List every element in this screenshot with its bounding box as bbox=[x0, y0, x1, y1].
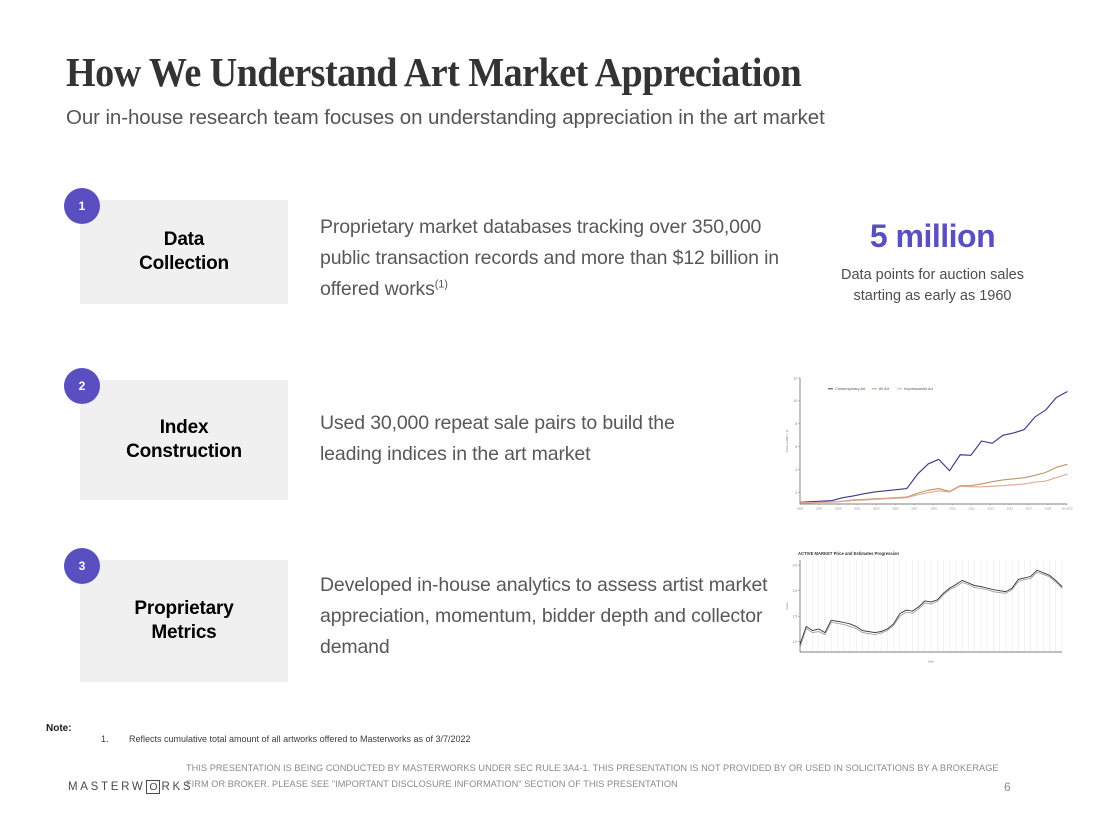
step-box-label: Proprietary Metrics bbox=[134, 597, 233, 646]
svg-text:2019: 2019 bbox=[1045, 506, 1052, 510]
svg-text:Index (1995 = 1): Index (1995 = 1) bbox=[785, 430, 789, 453]
page-number: 6 bbox=[1004, 780, 1011, 794]
svg-text:2010: 2010 bbox=[949, 506, 956, 510]
svg-text:1997: 1997 bbox=[816, 506, 823, 510]
svg-text:2007: 2007 bbox=[911, 506, 918, 510]
svg-text:2017: 2017 bbox=[1026, 506, 1033, 510]
step-row-proprietary-metrics: 3 Proprietary Metrics Developed in-house… bbox=[0, 548, 1100, 693]
svg-text:Impressionist Art: Impressionist Art bbox=[904, 386, 934, 391]
step-box-data-collection: Data Collection bbox=[80, 200, 288, 304]
step-description-proprietary-metrics: Developed in-house analytics to assess a… bbox=[320, 570, 770, 662]
note-block: Note: 1.Reflects cumulative total amount… bbox=[46, 718, 72, 736]
page-title: How We Understand Art Market Appreciatio… bbox=[66, 48, 801, 96]
svg-text:1995: 1995 bbox=[797, 506, 804, 510]
stat-caption-line-2: starting as early as 1960 bbox=[854, 288, 1012, 304]
step-box-index-construction: Index Construction bbox=[80, 380, 288, 500]
logo-text-part-1: MASTERW bbox=[68, 781, 145, 793]
page-subtitle: Our in-house research team focuses on un… bbox=[66, 106, 825, 130]
masterworks-logo: MASTERWORKS bbox=[68, 780, 193, 794]
svg-text:12: 12 bbox=[793, 376, 797, 380]
svg-text:ACTIVE MARKET Price and Estima: ACTIVE MARKET Price and Estimates Progre… bbox=[798, 551, 899, 556]
step-badge-3: 3 bbox=[64, 548, 100, 584]
step-label-line-1: Data bbox=[164, 229, 204, 250]
svg-text:2: 2 bbox=[795, 491, 797, 495]
note-item: 1.Reflects cumulative total amount of al… bbox=[101, 734, 471, 744]
step-box-label: Data Collection bbox=[139, 228, 229, 277]
step-description-data-collection: Proprietary market databases tracking ov… bbox=[320, 212, 800, 304]
step-badge-2: 2 bbox=[64, 368, 100, 404]
svg-text:2003: 2003 bbox=[873, 506, 880, 510]
step-label-line-2: Construction bbox=[126, 441, 242, 462]
svg-text:2.5: 2.5 bbox=[793, 563, 798, 567]
svg-text:Index: Index bbox=[785, 602, 789, 610]
note-text: Reflects cumulative total amount of all … bbox=[129, 734, 471, 744]
svg-text:10: 10 bbox=[793, 399, 797, 403]
logo-boxed-o-icon: O bbox=[146, 780, 160, 794]
disclaimer-line-1: THIS PRESENTATION IS BEING CONDUCTED BY … bbox=[186, 763, 999, 773]
svg-text:4: 4 bbox=[795, 468, 797, 472]
note-number: 1. bbox=[101, 734, 129, 744]
svg-text:6: 6 bbox=[795, 445, 797, 449]
svg-text:Contemporary Art: Contemporary Art bbox=[835, 386, 866, 391]
proprietary-metrics-chart-svg: ACTIVE MARKET Price and Estimates Progre… bbox=[778, 548, 1068, 676]
svg-text:1.0: 1.0 bbox=[793, 640, 798, 644]
svg-text:8: 8 bbox=[795, 422, 797, 426]
svg-text:All Art: All Art bbox=[879, 386, 890, 391]
disclaimer-line-2: FIRM OR BROKER. PLEASE SEE "IMPORTANT DI… bbox=[186, 779, 678, 789]
step-box-proprietary-metrics: Proprietary Metrics bbox=[80, 560, 288, 682]
stat-callout: 5 million Data points for auction sales … bbox=[810, 218, 1055, 306]
svg-text:2015: 2015 bbox=[1007, 506, 1014, 510]
svg-text:Date: Date bbox=[928, 660, 935, 664]
step-row-data-collection: 1 Data Collection Proprietary market dat… bbox=[0, 188, 1100, 328]
svg-text:1H 2020: 1H 2020 bbox=[1062, 506, 1073, 510]
footnote-marker: (1) bbox=[435, 278, 448, 290]
svg-text:1.5: 1.5 bbox=[793, 615, 798, 619]
svg-text:1999: 1999 bbox=[835, 506, 842, 510]
stat-value: 5 million bbox=[810, 218, 1055, 255]
step-box-label: Index Construction bbox=[126, 416, 242, 465]
step-row-index-construction: 2 Index Construction Used 30,000 repeat … bbox=[0, 368, 1100, 523]
index-construction-chart-svg: 24681012Index (1995 = 1)1995199719992001… bbox=[778, 372, 1073, 522]
stat-caption: Data points for auction sales starting a… bbox=[810, 265, 1055, 306]
svg-text:2.0: 2.0 bbox=[793, 589, 798, 593]
proprietary-metrics-chart: ACTIVE MARKET Price and Estimates Progre… bbox=[778, 548, 1068, 676]
index-construction-chart: 24681012Index (1995 = 1)1995199719992001… bbox=[778, 372, 1073, 522]
step-label-line-2: Metrics bbox=[151, 622, 216, 643]
svg-text:2001: 2001 bbox=[854, 506, 861, 510]
stat-caption-line-1: Data points for auction sales bbox=[841, 267, 1024, 283]
svg-text:2013: 2013 bbox=[987, 506, 994, 510]
step-label-line-1: Proprietary bbox=[134, 598, 233, 619]
step-description-text: Proprietary market databases tracking ov… bbox=[320, 216, 779, 300]
note-label: Note: bbox=[46, 723, 72, 734]
svg-text:2005: 2005 bbox=[892, 506, 899, 510]
step-label-line-2: Collection bbox=[139, 253, 229, 274]
step-description-index-construction: Used 30,000 repeat sale pairs to build t… bbox=[320, 408, 740, 470]
svg-text:2009: 2009 bbox=[930, 506, 937, 510]
svg-text:2011: 2011 bbox=[969, 506, 976, 510]
step-label-line-1: Index bbox=[160, 417, 209, 438]
step-badge-1: 1 bbox=[64, 188, 100, 224]
disclaimer-text: THIS PRESENTATION IS BEING CONDUCTED BY … bbox=[186, 760, 1086, 792]
